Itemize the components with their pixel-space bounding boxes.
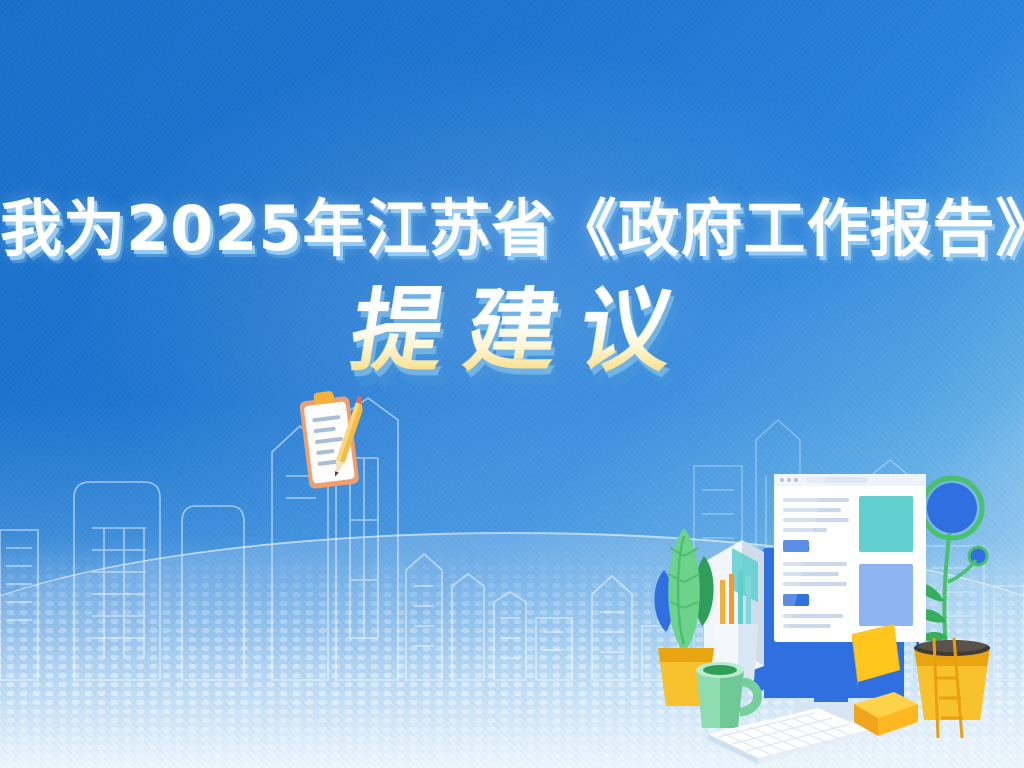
headline-group: 我为2025年江苏省《政府工作报告》 提建议 (0, 196, 1024, 405)
screen-image-teal (859, 496, 913, 552)
workspace-illustration (646, 452, 1024, 768)
screen-image-blue (859, 564, 913, 626)
headline-line-1: 我为2025年江苏省《政府工作报告》 (0, 196, 1024, 261)
headline-line-2: 提建议 (323, 285, 702, 377)
clipboard-with-pencil-icon (294, 384, 372, 495)
banner-poster: 我为2025年江苏省《政府工作报告》 提建议 (0, 0, 1024, 768)
headline-line-2-wrapper: 提建议 (0, 285, 1024, 405)
desktop-monitor (754, 474, 926, 720)
